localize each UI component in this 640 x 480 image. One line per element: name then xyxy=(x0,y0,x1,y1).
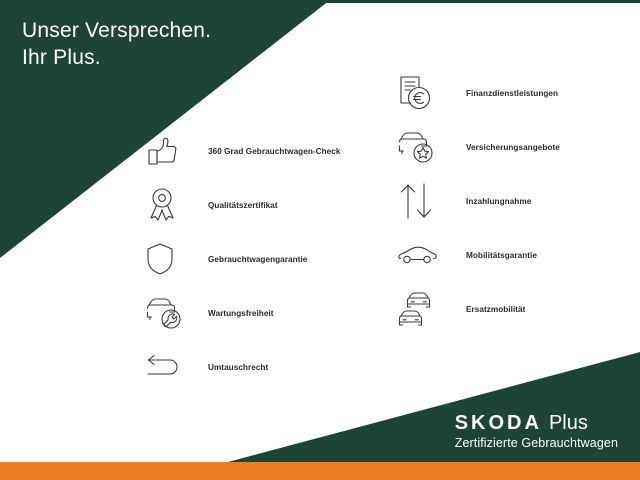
brand-name: SKODA xyxy=(455,412,542,435)
headline-line-1: Unser Versprechen. xyxy=(22,19,211,42)
feature-item: Wartungsfreiheit xyxy=(146,286,341,340)
car-side-icon xyxy=(398,232,450,278)
feature-label: Gebrauchtwagengarantie xyxy=(208,255,307,264)
feature-item: Mobilitätsgarantie xyxy=(398,228,560,282)
headline-line-2: Ihr Plus. xyxy=(22,46,101,69)
document-euro-icon xyxy=(398,70,450,116)
feature-label: Versicherungsangebote xyxy=(466,143,560,152)
two-cars-icon xyxy=(398,286,450,332)
feature-item: Finanzdienstleistungen xyxy=(398,66,560,120)
feature-label: Finanzdienstleistungen xyxy=(466,89,558,98)
brand-title-row: SKODA Plus xyxy=(455,412,618,435)
feature-item: Umtauschrecht xyxy=(146,340,341,394)
up-down-arrows-icon xyxy=(398,178,450,224)
feature-label: 360 Grad Gebrauchtwagen-Check xyxy=(208,147,341,156)
feature-item: Versicherungsangebote xyxy=(398,120,560,174)
thumbs-up-icon xyxy=(146,128,198,174)
feature-list-right: Finanzdienstleistungen Versicherungsange… xyxy=(398,66,560,336)
brand-suffix: Plus xyxy=(549,412,588,435)
orange-footer-bar xyxy=(0,462,640,480)
page-title: Unser Versprechen. Ihr Plus. xyxy=(22,17,211,71)
feature-label: Wartungsfreiheit xyxy=(208,309,274,318)
feature-item: 360 Grad Gebrauchtwagen-Check xyxy=(146,124,341,178)
car-star-icon xyxy=(398,124,450,170)
car-wrench-icon xyxy=(146,290,198,336)
feature-label: Qualitätszertifikat xyxy=(208,201,278,210)
feature-label: Ersatzmobilität xyxy=(466,305,525,314)
feature-label: Umtauschrecht xyxy=(208,363,268,372)
return-arrow-icon xyxy=(146,344,198,390)
brand-lockup: SKODA Plus Zertifizierte Gebrauchtwagen xyxy=(455,412,618,450)
feature-item: Inzahlungnahme xyxy=(398,174,560,228)
feature-label: Inzahlungnahme xyxy=(466,197,531,206)
feature-item: Ersatzmobilität xyxy=(398,282,560,336)
shield-icon xyxy=(146,236,198,282)
quality-rosette-icon xyxy=(146,182,198,228)
promo-slide: Unser Versprechen. Ihr Plus. 360 Grad Ge… xyxy=(0,0,640,480)
feature-item: Qualitätszertifikat xyxy=(146,178,341,232)
feature-item: Gebrauchtwagengarantie xyxy=(146,232,341,286)
feature-label: Mobilitätsgarantie xyxy=(466,251,537,260)
brand-tagline: Zertifizierte Gebrauchtwagen xyxy=(455,436,618,450)
feature-list-left: 360 Grad Gebrauchtwagen-Check Qualitätsz… xyxy=(146,124,341,394)
